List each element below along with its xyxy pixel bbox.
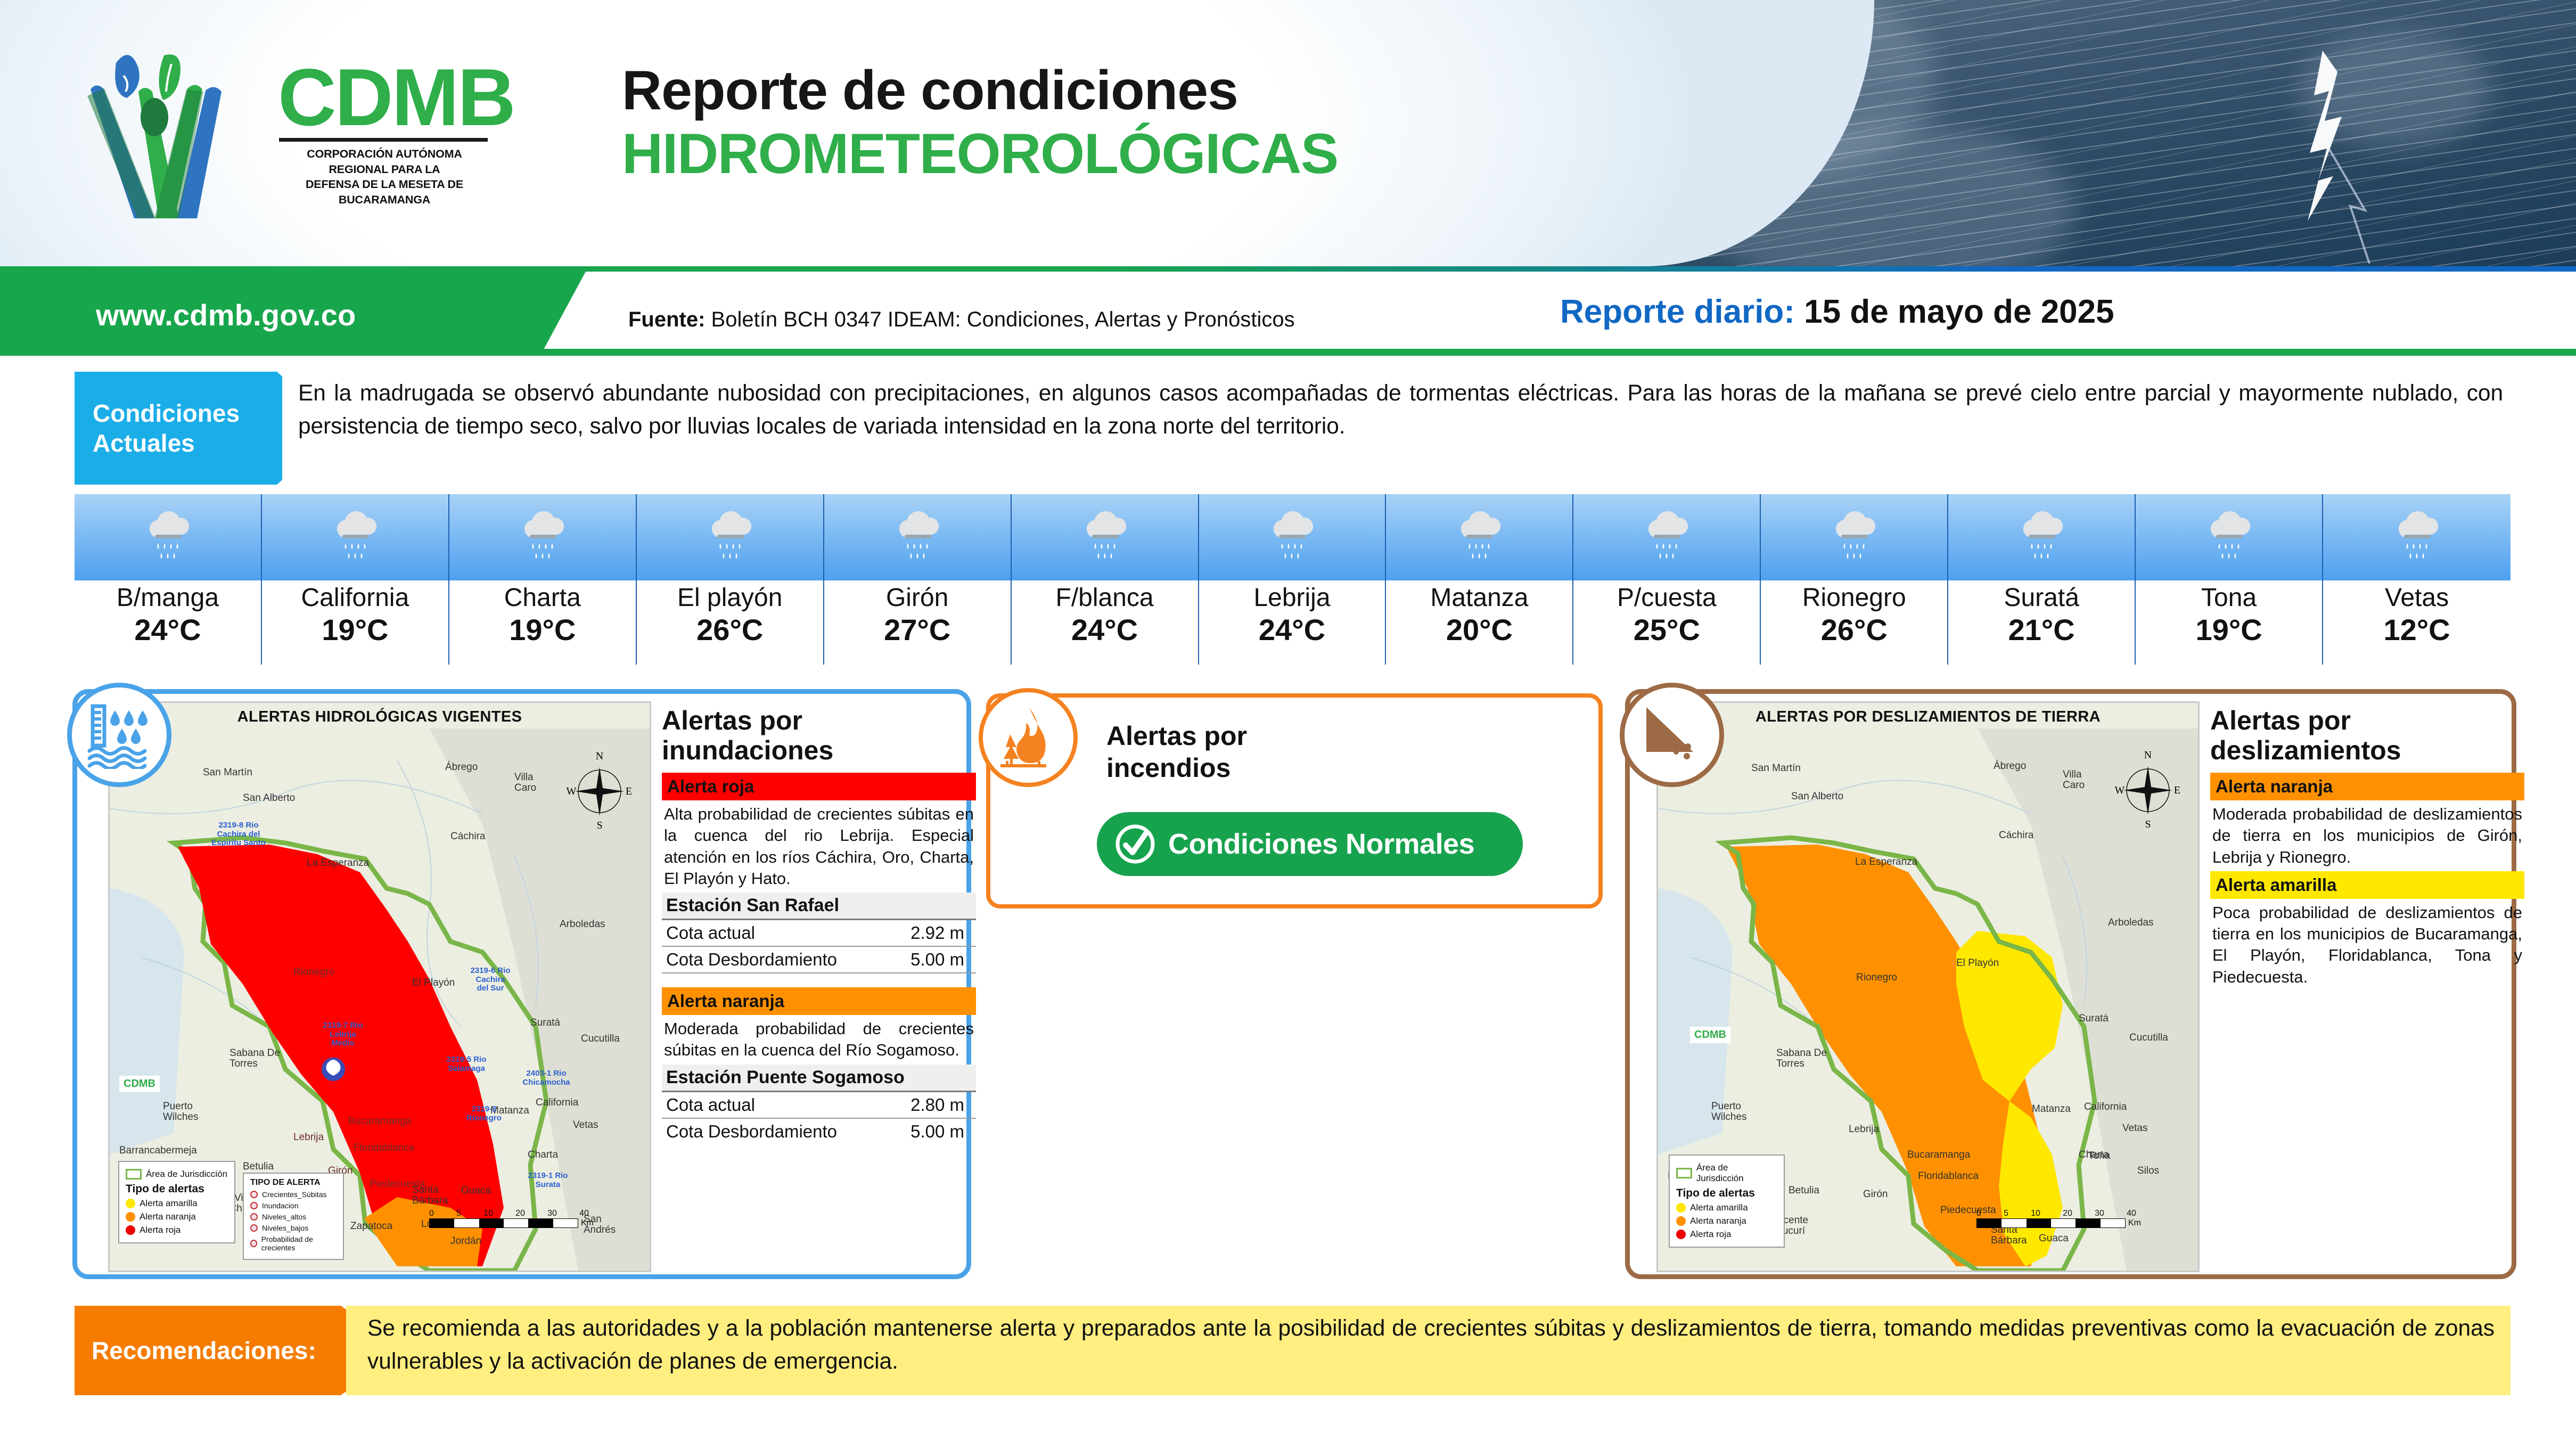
- map-label: Sabana DeTorres: [1776, 1048, 1827, 1069]
- weather-station-name: Matanza: [1430, 584, 1528, 612]
- scale-tick: 5: [2004, 1209, 2008, 1218]
- fire-heading-line2: incendios: [1106, 752, 1247, 784]
- alert-type-icon: [250, 1191, 258, 1198]
- weather-station-temp: 26°C: [696, 612, 763, 648]
- flood-station-2-row: Cota Desbordamiento 5.00 m: [662, 1119, 976, 1144]
- weather-station-name: Tona: [2201, 584, 2257, 612]
- map-label: Cucutilla: [2129, 1032, 2168, 1044]
- current-conditions-body: En la madrugada se observó abundante nub…: [282, 372, 2511, 485]
- map-label: Guaca: [461, 1185, 491, 1197]
- weather-station-cell: Rionegro26°C: [1761, 494, 1948, 665]
- alert-type-icon: [250, 1224, 258, 1232]
- landslide-alert-desc-yellow: Poca probabilidad de deslizamientos de t…: [2210, 899, 2524, 991]
- recommendations-body: Se recomienda a las autoridades y a la p…: [346, 1306, 2511, 1395]
- legend-title: Tipo de alertas: [126, 1183, 228, 1196]
- map-label: Arboledas: [560, 919, 605, 930]
- flood-alerts-panel: ALERTAS HIDROLÓGICAS VIGENTES San: [72, 689, 971, 1279]
- landslide-alerts-column: Alertas por deslizamientos Alerta naranj…: [2210, 706, 2524, 991]
- cdmb-logo: CDMB CORPORACIÓN AUTÓNOMA REGIONAL PARA …: [75, 43, 596, 224]
- alert-type-icon: [250, 1213, 258, 1221]
- flood-heading-line1: Alertas por: [662, 706, 976, 735]
- rain-cloud-icon: [142, 508, 193, 567]
- weather-station-temp: 21°C: [2008, 612, 2075, 648]
- map-label: La Esperanza: [307, 857, 369, 869]
- weather-text-cell: Tona19°C: [2136, 580, 2323, 665]
- weather-station-temp: 27°C: [884, 612, 950, 648]
- map-river-label: 2319-8 RioCachira delEspiritu Santo: [201, 821, 276, 848]
- weather-station-name: F/blanca: [1056, 584, 1154, 612]
- weather-text-cell: California19°C: [262, 580, 449, 665]
- flood-map-legend: Área de Jurisdicción Tipo de alertas Ale…: [118, 1161, 235, 1243]
- row-label: Cota Desbordamiento: [666, 1121, 864, 1142]
- map-river-label: 2319-6 RioCachiradel Sur: [458, 967, 522, 993]
- rain-cloud-icon: [1079, 508, 1130, 567]
- row-value: 2.92 m: [864, 923, 976, 943]
- weather-text-cell: Girón27°C: [824, 580, 1012, 665]
- weather-text-cell: Suratá21°C: [1948, 580, 2136, 665]
- flood-heading-line2: inundaciones: [662, 735, 976, 765]
- weather-text-cell: P/cuesta25°C: [1573, 580, 1761, 665]
- svg-text:S: S: [2145, 818, 2151, 830]
- weather-station-cell: P/cuesta25°C: [1573, 494, 1761, 665]
- lightning-icon: [2267, 51, 2374, 264]
- weather-text-cell: B/manga24°C: [75, 580, 262, 665]
- legend-color-swatch: [1676, 1216, 1686, 1226]
- weather-icon-cell: [1573, 494, 1761, 580]
- landslide-alert-desc-orange: Moderada probabilidad de deslizamientos …: [2210, 800, 2524, 871]
- map-label: California: [2084, 1101, 2127, 1113]
- water-level-gauge-icon: [85, 701, 153, 769]
- weather-icon-cell: [1199, 494, 1387, 580]
- weather-station-cell: B/manga24°C: [75, 494, 262, 665]
- map-label: Zapatoca: [350, 1221, 392, 1232]
- current-conditions-section: Condiciones Actuales En la madrugada se …: [75, 372, 2511, 485]
- svg-text:W: W: [2115, 784, 2125, 796]
- map-label: Cucutilla: [581, 1033, 620, 1045]
- flood-station-2-row: Cota actual 2.80 m: [662, 1092, 976, 1119]
- weather-icon-cell: [2323, 494, 2511, 580]
- landslide-badge: [1620, 683, 1724, 787]
- landslide-map[interactable]: ALERTAS POR DESLIZAMIENTOS DE TIERRA San…: [1656, 701, 2200, 1272]
- rain-cloud-icon: [892, 508, 943, 567]
- rain-cloud-icon: [1828, 508, 1880, 567]
- flood-station-1-row: Cota Desbordamiento 5.00 m: [662, 947, 976, 973]
- recommendations-tab-label: Recomendaciones:: [92, 1336, 316, 1365]
- source-value: Boletín BCH 0347 IDEAM: Condiciones, Ale…: [705, 308, 1294, 331]
- check-circle-icon: [1113, 822, 1158, 866]
- weather-station-temp: 20°C: [1446, 612, 1513, 648]
- flood-station-1-row: Cota actual 2.92 m: [662, 920, 976, 947]
- weather-station-name: P/cuesta: [1617, 584, 1717, 612]
- weather-station-temp: 19°C: [322, 612, 388, 648]
- landslide-map-legend: Área de Jurisdicción Tipo de alertas Ale…: [1669, 1155, 1785, 1248]
- flood-badge: [67, 683, 171, 787]
- map-river-label: 2319-7 RioLebrijaMedio: [311, 1021, 375, 1048]
- scale-tick: 0: [1976, 1209, 1981, 1218]
- svg-text:W: W: [567, 785, 577, 797]
- map-label: VillaCaro: [2063, 769, 2085, 791]
- landslide-heading-line2: deslizamientos: [2210, 735, 2524, 765]
- weather-text-cell: Rionegro26°C: [1761, 580, 1948, 665]
- map-label: Floridablanca: [1918, 1170, 1979, 1182]
- map-label: California: [536, 1097, 578, 1109]
- fire-status-badge: Condiciones Normales: [1097, 812, 1523, 876]
- weather-station-cell: F/blanca24°C: [1012, 494, 1199, 665]
- map-label: Jordán: [450, 1235, 481, 1247]
- website-url[interactable]: www.cdmb.gov.co: [96, 298, 356, 332]
- logo-subtitle-line1: CORPORACIÓN AUTÓNOMA REGIONAL PARA LA: [278, 146, 491, 177]
- rain-cloud-icon: [1266, 508, 1317, 567]
- jurisdiction-swatch: [1676, 1168, 1692, 1178]
- weather-icon-cell: [75, 494, 262, 580]
- landslide-icon: [1638, 701, 1706, 769]
- weather-station-temp: 26°C: [1821, 612, 1888, 648]
- flood-map-scalebar: 0 5 10 20 30 40 Km: [429, 1209, 594, 1228]
- legend-color-swatch: [1676, 1230, 1686, 1239]
- weather-station-temp: 24°C: [134, 612, 201, 648]
- rain-cloud-icon: [1454, 508, 1505, 567]
- map-label: Ábrego: [445, 762, 478, 773]
- weather-station-name: El playón: [677, 584, 782, 612]
- weather-station-cell: California19°C: [262, 494, 449, 665]
- map-river-label: 2319-5 RioSalamaga: [434, 1055, 498, 1073]
- weather-station-temp: 24°C: [1071, 612, 1138, 648]
- weather-icon-cell: [2136, 494, 2323, 580]
- weather-station-temp: 19°C: [509, 612, 576, 648]
- scale-unit: Km: [2128, 1218, 2141, 1228]
- legend-item-label: Alerta naranja: [140, 1211, 196, 1222]
- scale-tick: 30: [2095, 1209, 2104, 1218]
- weather-station-temp: 12°C: [2383, 612, 2450, 648]
- legend-jurisdiction: Área de Jurisdicción: [146, 1169, 227, 1180]
- map-river-label: 2403-1 RioChicamocha: [514, 1069, 578, 1087]
- map-label: Lebrija: [1849, 1124, 1879, 1135]
- map-label: San Alberto: [243, 792, 295, 804]
- legend-color-swatch: [1676, 1203, 1686, 1213]
- scale-unit: Km: [581, 1218, 594, 1228]
- map-label: Bucaramanga: [348, 1116, 411, 1127]
- map-river-label: 2319-1 RioSurata: [519, 1172, 577, 1189]
- weather-station-temp: 24°C: [1259, 612, 1325, 648]
- map-label: VillaCaro: [514, 772, 536, 793]
- map-label: SantaBárbara: [412, 1185, 448, 1206]
- scale-tick: 40: [2127, 1209, 2136, 1218]
- recommendations-section: Recomendaciones: Se recomienda a las aut…: [75, 1306, 2511, 1395]
- map-label: Cáchira: [1999, 830, 2033, 841]
- map-label: San Martín: [203, 767, 252, 779]
- weather-station-cell: Girón27°C: [824, 494, 1012, 665]
- scale-tick: 10: [483, 1209, 493, 1218]
- weather-icon-cell: [449, 494, 637, 580]
- row-value: 5.00 m: [864, 949, 976, 970]
- map-label: La Esperanza: [1855, 856, 1917, 868]
- recommendations-text: Se recomienda a las autoridades y a la p…: [367, 1312, 2495, 1378]
- scale-tick: 20: [2063, 1209, 2072, 1218]
- fire-heading-line1: Alertas por: [1106, 720, 1247, 752]
- weather-station-name: Girón: [886, 584, 948, 612]
- map-label: Betulia: [243, 1161, 274, 1173]
- map-label: San Alberto: [1791, 791, 1843, 803]
- row-value: 5.00 m: [864, 1121, 976, 1142]
- weather-station-temp: 25°C: [1634, 612, 1700, 648]
- weather-station-cell: Tona19°C: [2136, 494, 2323, 665]
- weather-text-cell: F/blanca24°C: [1012, 580, 1199, 665]
- scale-tick: 5: [456, 1209, 461, 1218]
- flood-alert-band-orange: Alerta naranja: [662, 987, 976, 1015]
- svg-text:E: E: [626, 785, 632, 797]
- report-date-value: 15 de mayo de 2025: [1795, 293, 2114, 330]
- weather-station-cell: Suratá21°C: [1948, 494, 2136, 665]
- weather-station-name: B/manga: [117, 584, 219, 612]
- map-label: Vetas: [2122, 1123, 2148, 1134]
- page-header: CDMB CORPORACIÓN AUTÓNOMA REGIONAL PARA …: [0, 0, 2576, 266]
- alert-type-icon: [250, 1202, 258, 1209]
- landslide-alert-band-orange: Alerta naranja: [2210, 773, 2524, 800]
- weather-station-cell: Matanza20°C: [1386, 494, 1573, 665]
- alert-type-label: Niveles_altos: [262, 1213, 306, 1221]
- report-date-line: Reporte diario: 15 de mayo de 2025: [1560, 293, 2114, 331]
- logo-subtitle-line2: DEFENSA DE LA MESETA DE BUCARAMANGA: [278, 177, 491, 208]
- map-label: Charta: [528, 1149, 558, 1161]
- weather-station-name: Rionegro: [1802, 584, 1906, 612]
- weather-station-name: Charta: [504, 584, 581, 612]
- legend-item-label: Alerta roja: [140, 1225, 181, 1235]
- scale-tick: 30: [547, 1209, 557, 1218]
- map-label: Suratá: [2079, 1013, 2109, 1025]
- map-label: PuertoWilches: [1711, 1101, 1747, 1123]
- current-conditions-text: En la madrugada se observó abundante nub…: [298, 377, 2503, 443]
- svg-text:E: E: [2174, 784, 2180, 796]
- flood-station-1: Estación San Rafael: [662, 893, 976, 920]
- weather-icon-cell: [1386, 494, 1573, 580]
- alert-type-label: Niveles_bajos: [262, 1224, 308, 1232]
- weather-icon-cell: [824, 494, 1012, 580]
- compass-rose-icon: N S E W: [565, 751, 634, 831]
- compass-rose-icon: N S E W: [2113, 750, 2183, 830]
- weather-icon-cell: [1761, 494, 1948, 580]
- weather-station-name: Lebrija: [1253, 584, 1330, 612]
- row-label: Cota actual: [666, 923, 864, 943]
- scale-tick: 40: [579, 1209, 589, 1218]
- flood-map-logo: CDMB: [119, 1076, 160, 1092]
- legend-item-label: Alerta naranja: [1690, 1216, 1746, 1226]
- flood-alert-desc-red: Alta probabilidad de crecientes súbitas …: [662, 800, 976, 893]
- legend-item-label: Alerta amarilla: [1690, 1202, 1748, 1213]
- legend-jurisdiction: Área de Jurisdicción: [1696, 1163, 1777, 1184]
- svg-text:S: S: [596, 820, 602, 831]
- landslide-alert-band-yellow: Alerta amarilla: [2210, 871, 2524, 899]
- flood-station-2: Estación Puente Sogamoso: [662, 1065, 976, 1092]
- map-label: San Martín: [1751, 763, 1801, 774]
- alert-type-label: Crecientes_Súbitas: [262, 1190, 326, 1199]
- weather-station-name: Suratá: [2004, 584, 2079, 612]
- rain-cloud-icon: [1641, 508, 1692, 567]
- weather-station-cell: Lebrija24°C: [1199, 494, 1387, 665]
- row-value: 2.80 m: [864, 1095, 976, 1115]
- rain-cloud-icon: [517, 508, 568, 567]
- alert-type-label: Probabilidad de crecientes: [261, 1235, 337, 1252]
- map-label: Girón: [1863, 1189, 1888, 1200]
- map-label: Vetas: [573, 1119, 598, 1131]
- map-label: Silos: [2137, 1165, 2159, 1177]
- flood-alert-desc-orange: Moderada probabilidad de crecientes súbi…: [662, 1015, 976, 1065]
- weather-station-temp: 19°C: [2196, 612, 2262, 648]
- weather-text-cell: Matanza20°C: [1386, 580, 1573, 665]
- map-label: Suratá: [530, 1017, 560, 1029]
- fire-status-label: Condiciones Normales: [1168, 828, 1474, 861]
- rain-cloud-icon: [330, 508, 381, 567]
- row-label: Cota actual: [666, 1095, 864, 1115]
- rain-cloud-icon: [2016, 508, 2067, 567]
- map-label: PuertoWilches: [163, 1101, 199, 1123]
- scale-tick: 10: [2031, 1209, 2040, 1218]
- legend-item-label: Alerta amarilla: [140, 1198, 198, 1209]
- report-date-label: Reporte diario:: [1560, 293, 1795, 330]
- map-label: Lebrija: [293, 1132, 324, 1143]
- weather-icon-cell: [262, 494, 449, 580]
- legend-color-swatch: [126, 1212, 135, 1222]
- fire-badge: [979, 688, 1078, 787]
- fire-forest-icon: [996, 706, 1060, 769]
- landslide-heading-line1: Alertas por: [2210, 706, 2524, 735]
- weather-station-cell: El playón26°C: [637, 494, 824, 665]
- flood-alert-band-red: Alerta roja: [662, 773, 976, 800]
- weather-strip: B/manga24°C California19°C C: [75, 494, 2511, 665]
- weather-station-cell: Vetas12°C: [2323, 494, 2511, 665]
- svg-text:N: N: [596, 751, 603, 762]
- flood-map-title: ALERTAS HIDROLÓGICAS VIGENTES: [110, 708, 650, 726]
- row-label: Cota Desbordamiento: [666, 949, 864, 970]
- svg-text:N: N: [2144, 750, 2152, 761]
- map-label: Betulia: [1789, 1185, 1819, 1197]
- alert-type-title: TIPO DE ALERTA: [250, 1178, 337, 1188]
- jurisdiction-swatch: [126, 1169, 142, 1180]
- map-label: Rionegro: [293, 967, 334, 978]
- fire-alerts-panel: Alertas por incendios Condiciones Normal…: [986, 693, 1603, 908]
- weather-station-cell: Charta19°C: [449, 494, 637, 665]
- alert-type-label: Inundacion: [262, 1201, 299, 1210]
- weather-icon-cell: [1012, 494, 1199, 580]
- page-title-line2: HIDROMETEOROLÓGICAS: [622, 124, 1338, 183]
- map-label: Ábrego: [1993, 760, 2026, 772]
- weather-text-cell: Charta19°C: [449, 580, 637, 665]
- landslide-alerts-panel: ALERTAS POR DESLIZAMIENTOS DE TIERRA San…: [1625, 689, 2516, 1279]
- legend-color-swatch: [126, 1199, 135, 1208]
- map-label: El Playón: [412, 977, 455, 989]
- flood-alerts-column: Alertas por inundaciones Alerta roja Alt…: [662, 706, 976, 1144]
- landslide-map-scalebar: 0 5 10 20 30 40 Km: [1976, 1209, 2141, 1228]
- flood-map[interactable]: ALERTAS HIDROLÓGICAS VIGENTES San: [108, 701, 651, 1272]
- rain-cloud-icon: [2391, 508, 2442, 567]
- map-label: Floridablanca: [354, 1142, 414, 1154]
- weather-icon-cell: [637, 494, 824, 580]
- landslide-map-title: ALERTAS POR DESLIZAMIENTOS DE TIERRA: [1658, 708, 2198, 726]
- legend-color-swatch: [126, 1225, 135, 1235]
- weather-text-cell: Vetas12°C: [2323, 580, 2511, 665]
- logo-acronym: CDMB: [278, 63, 514, 133]
- source-label: Fuente:: [628, 308, 705, 331]
- map-label: Rionegro: [1856, 972, 1897, 984]
- map-label: Guaca: [2039, 1233, 2069, 1245]
- weather-text-cell: El playón26°C: [637, 580, 824, 665]
- ribbon-bottom-rule: [0, 349, 2576, 356]
- weather-station-name: California: [301, 584, 409, 612]
- map-label: Cáchira: [450, 831, 485, 842]
- landslide-map-logo: CDMB: [1690, 1027, 1730, 1043]
- map-label: Bucaramanga: [1907, 1149, 1970, 1161]
- map-label: Matanza: [2032, 1103, 2071, 1115]
- weather-station-name: Vetas: [2385, 584, 2449, 612]
- weather-text-cell: Lebrija24°C: [1199, 580, 1387, 665]
- map-label: Sabana DeTorres: [229, 1048, 280, 1069]
- legend-title: Tipo de alertas: [1676, 1187, 1777, 1200]
- map-label: El Playón: [1956, 957, 1999, 969]
- rain-cloud-icon: [704, 508, 756, 567]
- weather-icon-cell: [1948, 494, 2136, 580]
- legend-item-label: Alerta roja: [1690, 1229, 1731, 1240]
- map-label: Tona: [2088, 1150, 2110, 1162]
- map-river-label: 2319-3Rionegro: [455, 1105, 513, 1123]
- flood-alert-type-legend: TIPO DE ALERTA Crecientes_Súbitas Inunda…: [243, 1173, 344, 1260]
- scale-tick: 0: [429, 1209, 434, 1218]
- map-label: Barrancabermeja: [119, 1145, 197, 1157]
- map-label: Arboledas: [2108, 917, 2154, 929]
- alert-type-icon: [250, 1240, 257, 1247]
- cdmb-figures-icon: [75, 43, 272, 224]
- scale-tick: 20: [515, 1209, 525, 1218]
- source-text: Fuente: Boletín BCH 0347 IDEAM: Condicio…: [628, 308, 1295, 332]
- page-title-line1: Reporte de condiciones: [622, 63, 1338, 118]
- rain-cloud-icon: [2203, 508, 2254, 567]
